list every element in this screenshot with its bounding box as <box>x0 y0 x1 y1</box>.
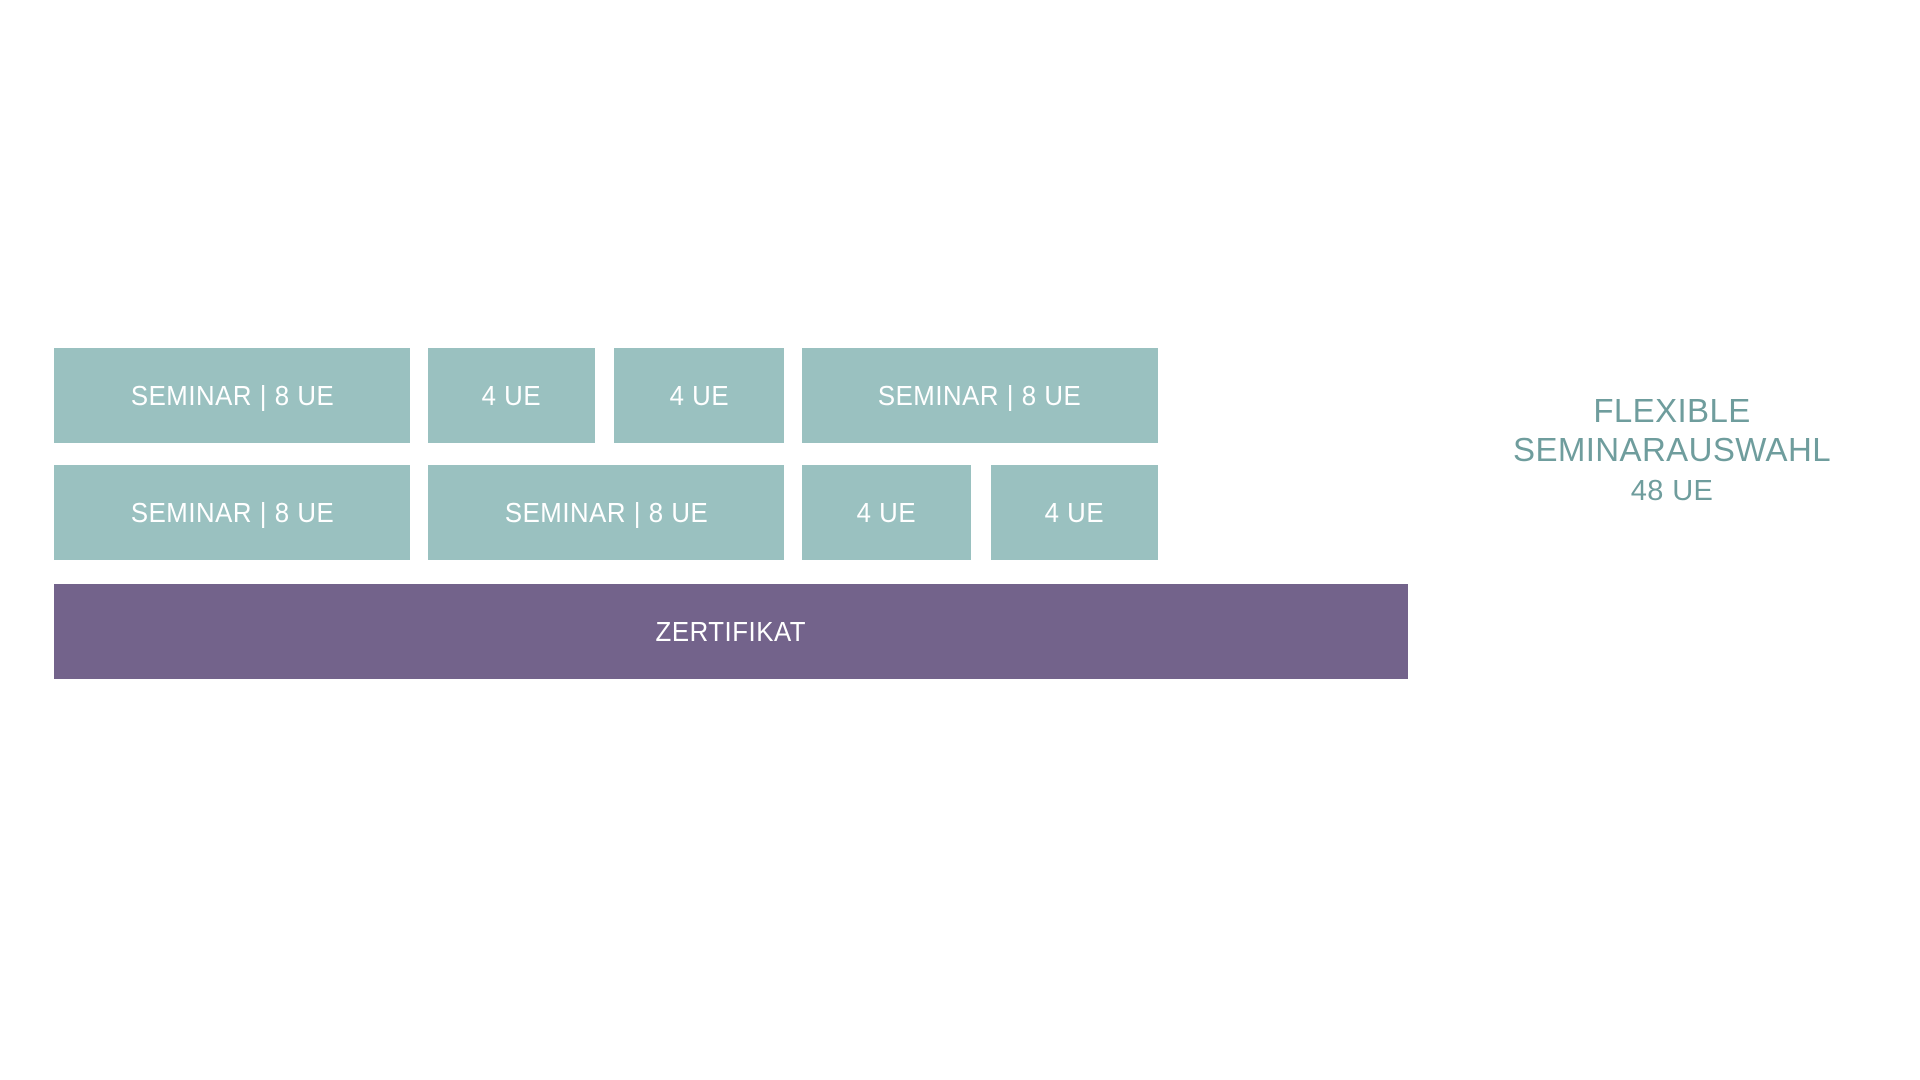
seminar-block-r1-c4[interactable]: SEMINAR | 8 UE <box>802 348 1158 443</box>
certificate-row: ZERTIFIKAT <box>54 584 1408 679</box>
seminar-row-1: SEMINAR | 8 UE 4 UE 4 UE SEMINAR | 8 UE <box>54 348 1408 443</box>
certificate-block-label: ZERTIFIKAT <box>656 618 807 646</box>
seminar-structure-diagram: SEMINAR | 8 UE 4 UE 4 UE SEMINAR | 8 UE … <box>0 0 1920 1080</box>
caption-line-1: FLEXIBLE <box>1468 392 1876 431</box>
seminar-block-r1-c1[interactable]: SEMINAR | 8 UE <box>54 348 410 443</box>
seminar-block-r1-c2[interactable]: 4 UE <box>428 348 595 443</box>
seminar-row-2: SEMINAR | 8 UE SEMINAR | 8 UE 4 UE 4 UE <box>54 465 1408 560</box>
seminar-block-r2-c1[interactable]: SEMINAR | 8 UE <box>54 465 410 560</box>
seminar-block-r2-c4[interactable]: 4 UE <box>991 465 1158 560</box>
seminar-block-label: 4 UE <box>857 499 916 527</box>
seminar-block-label: 4 UE <box>669 382 728 410</box>
seminar-block-label: SEMINAR | 8 UE <box>130 382 333 410</box>
certificate-block[interactable]: ZERTIFIKAT <box>54 584 1408 679</box>
flexible-seminar-caption: FLEXIBLE SEMINARAUSWAHL 48 UE <box>1468 392 1876 508</box>
seminar-block-r2-c3[interactable]: 4 UE <box>802 465 971 560</box>
seminar-block-label: 4 UE <box>482 382 541 410</box>
seminar-rows: SEMINAR | 8 UE 4 UE 4 UE SEMINAR | 8 UE … <box>54 348 1408 679</box>
caption-line-2: SEMINARAUSWAHL <box>1468 431 1876 470</box>
seminar-block-r2-c2[interactable]: SEMINAR | 8 UE <box>428 465 784 560</box>
seminar-block-r1-c3[interactable]: 4 UE <box>614 348 783 443</box>
seminar-block-label: SEMINAR | 8 UE <box>504 499 707 527</box>
seminar-block-label: SEMINAR | 8 UE <box>130 499 333 527</box>
caption-total-units: 48 UE <box>1468 474 1876 508</box>
seminar-block-label: SEMINAR | 8 UE <box>878 382 1081 410</box>
seminar-block-label: 4 UE <box>1045 499 1104 527</box>
